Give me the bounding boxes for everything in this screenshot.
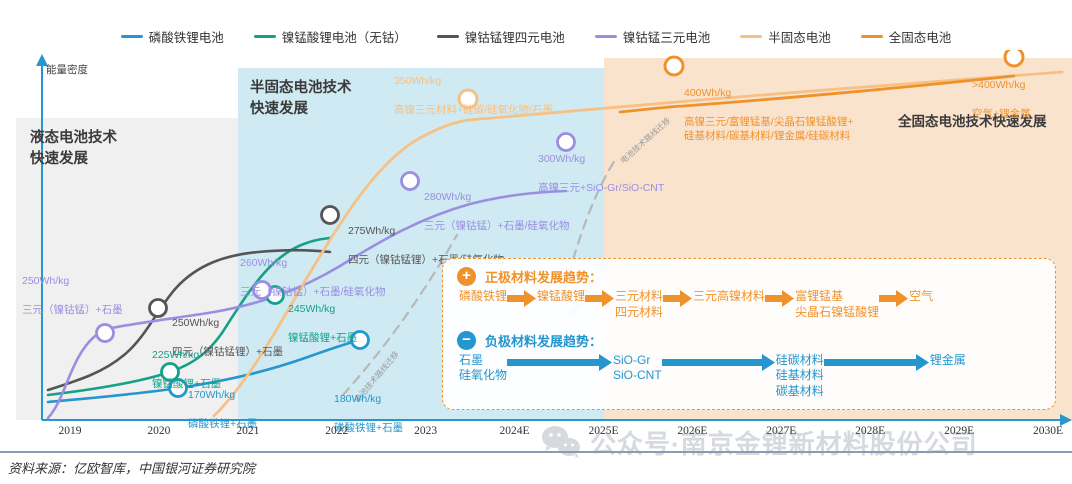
region-caption-semi-solid: 半固态电池技术 快速发展 bbox=[250, 78, 352, 120]
legend-item-3[interactable]: 镍钴锰三元电池 bbox=[595, 27, 711, 46]
annotation-value: 225Wh/kg bbox=[152, 349, 199, 361]
legend-item-0[interactable]: 磷酸铁锂电池 bbox=[121, 27, 224, 46]
legend-swatch-icon bbox=[595, 35, 617, 38]
x-axis-ticks: 201920202021202220232024E2025E2026E2027E… bbox=[0, 425, 1072, 447]
annotation-material: 高镍三元/富锂锰基/尖晶石镍锰酸锂+ 硅基材料/碳基材料/锂金属/硅碳材料 bbox=[684, 116, 853, 142]
x-tick-2023: 2023 bbox=[414, 425, 437, 437]
arrow-right-icon bbox=[507, 290, 537, 307]
material-trend-box: + 正极材料发展趋势： 磷酸铁锂 镍锰酸锂 三元材料 四元材料 三元高镍材料 富… bbox=[442, 258, 1056, 410]
arrow-right-icon bbox=[662, 354, 776, 371]
arrow-right-icon bbox=[879, 290, 909, 307]
legend-label: 半固态电池 bbox=[768, 27, 831, 46]
point-ternary-280 bbox=[402, 173, 419, 190]
anode-step: 石墨 硅氧化物 bbox=[459, 353, 507, 385]
legend-item-5[interactable]: 全固态电池 bbox=[861, 27, 952, 46]
annotation-value: 300Wh/kg bbox=[538, 153, 585, 165]
arrow-right-icon bbox=[663, 290, 693, 307]
legend-label: 磷酸铁锂电池 bbox=[149, 27, 224, 46]
annotation-value: 250Wh/kg bbox=[22, 275, 69, 287]
legend-swatch-icon bbox=[740, 35, 762, 38]
source-note: 资料来源：亿欧智库，中国银河证券研究院 bbox=[8, 458, 255, 477]
point-quaternary-275 bbox=[322, 207, 339, 224]
point-quaternary-250 bbox=[150, 300, 167, 317]
point-ternary-250 bbox=[97, 325, 114, 342]
x-tick-2024E: 2024E bbox=[500, 425, 530, 437]
legend-swatch-icon bbox=[437, 35, 459, 38]
annotation-material: 高镍三元+SiO-Gr/SiO-CNT bbox=[538, 182, 664, 194]
annotation-allsolid-400: 400Wh/kg 高镍三元/富锂锰基/尖晶石镍锰酸锂+ 硅基材料/碳基材料/锂金… bbox=[684, 72, 853, 143]
x-tick-2030E: 2030E bbox=[1033, 425, 1063, 437]
cathode-trend-row: 磷酸铁锂 镍锰酸锂 三元材料 四元材料 三元高镍材料 富锂锰基 尖晶石镍锰酸锂 … bbox=[457, 289, 1043, 321]
cathode-step: 镍锰酸锂 bbox=[537, 289, 585, 305]
cathode-trend-header: + 正极材料发展趋势： bbox=[457, 267, 1043, 286]
x-tick-2019: 2019 bbox=[59, 425, 82, 437]
annotation-value: 170Wh/kg bbox=[188, 389, 235, 401]
legend-swatch-icon bbox=[254, 35, 276, 38]
chart-legend: 磷酸铁锂电池镍锰酸锂电池（无钴）镍钴锰锂四元电池镍钴锰三元电池半固态电池全固态电… bbox=[0, 22, 1072, 50]
cathode-step: 三元材料 四元材料 bbox=[615, 289, 663, 321]
annotation-material: 高镍三元材料+硅碳/硅氧化物/石墨 bbox=[394, 104, 553, 116]
annotation-material: 空气+锂金属 bbox=[972, 108, 1031, 120]
x-tick-2020: 2020 bbox=[147, 425, 170, 437]
cathode-step: 三元高镍材料 bbox=[693, 289, 765, 305]
legend-label: 镍锰酸锂电池（无钴） bbox=[282, 27, 407, 46]
anode-trend-title: 负极材料发展趋势： bbox=[485, 331, 602, 350]
annotation-ternary-250: 250Wh/kg 三元（镍钴锰）+石墨 bbox=[22, 260, 123, 317]
annotation-value: 350Wh/kg bbox=[394, 75, 441, 87]
footer-divider bbox=[0, 451, 1072, 453]
annotation-value: >400Wh/kg bbox=[972, 79, 1025, 91]
arrow-right-icon bbox=[507, 354, 613, 371]
arrow-right-icon bbox=[765, 290, 795, 307]
arrow-right-icon bbox=[824, 354, 930, 371]
annotation-lnmo-245: 245Wh/kg 镍锰酸锂+石墨 bbox=[288, 288, 357, 345]
legend-label: 全固态电池 bbox=[889, 27, 952, 46]
annotation-value: 260Wh/kg bbox=[240, 257, 287, 269]
x-tick-2022: 2022 bbox=[325, 425, 348, 437]
annotation-material: 镍锰酸锂+石墨 bbox=[288, 332, 357, 344]
annotation-value: 180Wh/kg bbox=[334, 393, 381, 405]
x-tick-2025E: 2025E bbox=[588, 425, 618, 437]
legend-label: 镍钴锰三元电池 bbox=[623, 27, 711, 46]
annotation-value: 275Wh/kg bbox=[348, 225, 395, 237]
region-caption-liquid: 液态电池技术 快速发展 bbox=[30, 128, 117, 170]
annotation-value: 400Wh/kg bbox=[684, 87, 731, 99]
annotation-value: 250Wh/kg bbox=[172, 317, 219, 329]
plus-icon: + bbox=[457, 267, 476, 286]
legend-swatch-icon bbox=[861, 35, 883, 38]
anode-step: SiO-Gr SiO-CNT bbox=[613, 353, 662, 385]
annotation-value: 245Wh/kg bbox=[288, 303, 335, 315]
arrow-right-icon bbox=[585, 290, 615, 307]
legend-swatch-icon bbox=[121, 35, 143, 38]
x-tick-2027E: 2027E bbox=[766, 425, 796, 437]
x-tick-2029E: 2029E bbox=[944, 425, 974, 437]
anode-trend-row: 石墨 硅氧化物 SiO-Gr SiO-CNT 硅碳材料 硅基材料 碳基材料 锂金… bbox=[457, 353, 1043, 400]
annotation-allsolid-over400: >400Wh/kg 空气+锂金属 bbox=[972, 64, 1031, 121]
annotation-lfp-170: 170Wh/kg 磷酸铁锂+石墨 bbox=[188, 374, 257, 431]
legend-label: 镍钴锰锂四元电池 bbox=[465, 27, 565, 46]
x-tick-2021: 2021 bbox=[236, 425, 259, 437]
x-tick-2028E: 2028E bbox=[855, 425, 885, 437]
annotation-material: 三元（镍钴锰）+石墨 bbox=[22, 304, 123, 316]
y-axis-label: 能量密度 bbox=[46, 62, 88, 77]
legend-item-2[interactable]: 镍钴锰锂四元电池 bbox=[437, 27, 565, 46]
x-tick-2026E: 2026E bbox=[677, 425, 707, 437]
annotation-semisolid-350: 350Wh/kg 高镍三元材料+硅碳/硅氧化物/石墨 bbox=[394, 60, 553, 117]
annotation-value: 280Wh/kg bbox=[424, 191, 471, 203]
legend-item-1[interactable]: 镍锰酸锂电池（无钴） bbox=[254, 27, 407, 46]
anode-trend-header: − 负极材料发展趋势： bbox=[457, 331, 1043, 350]
point-allsolid-400 bbox=[665, 57, 683, 75]
cathode-step: 富锂锰基 尖晶石镍锰酸锂 bbox=[795, 289, 879, 321]
legend-item-4[interactable]: 半固态电池 bbox=[740, 27, 831, 46]
cathode-step: 空气 bbox=[909, 289, 933, 305]
cathode-step: 磷酸铁锂 bbox=[459, 289, 507, 305]
cathode-trend-title: 正极材料发展趋势： bbox=[485, 267, 602, 286]
anode-step: 硅碳材料 硅基材料 碳基材料 bbox=[776, 353, 824, 400]
annotation-ternary-300: 300Wh/kg 高镍三元+SiO-Gr/SiO-CNT bbox=[538, 138, 664, 195]
anode-step: 锂金属 bbox=[930, 353, 966, 369]
minus-icon: − bbox=[457, 331, 476, 350]
